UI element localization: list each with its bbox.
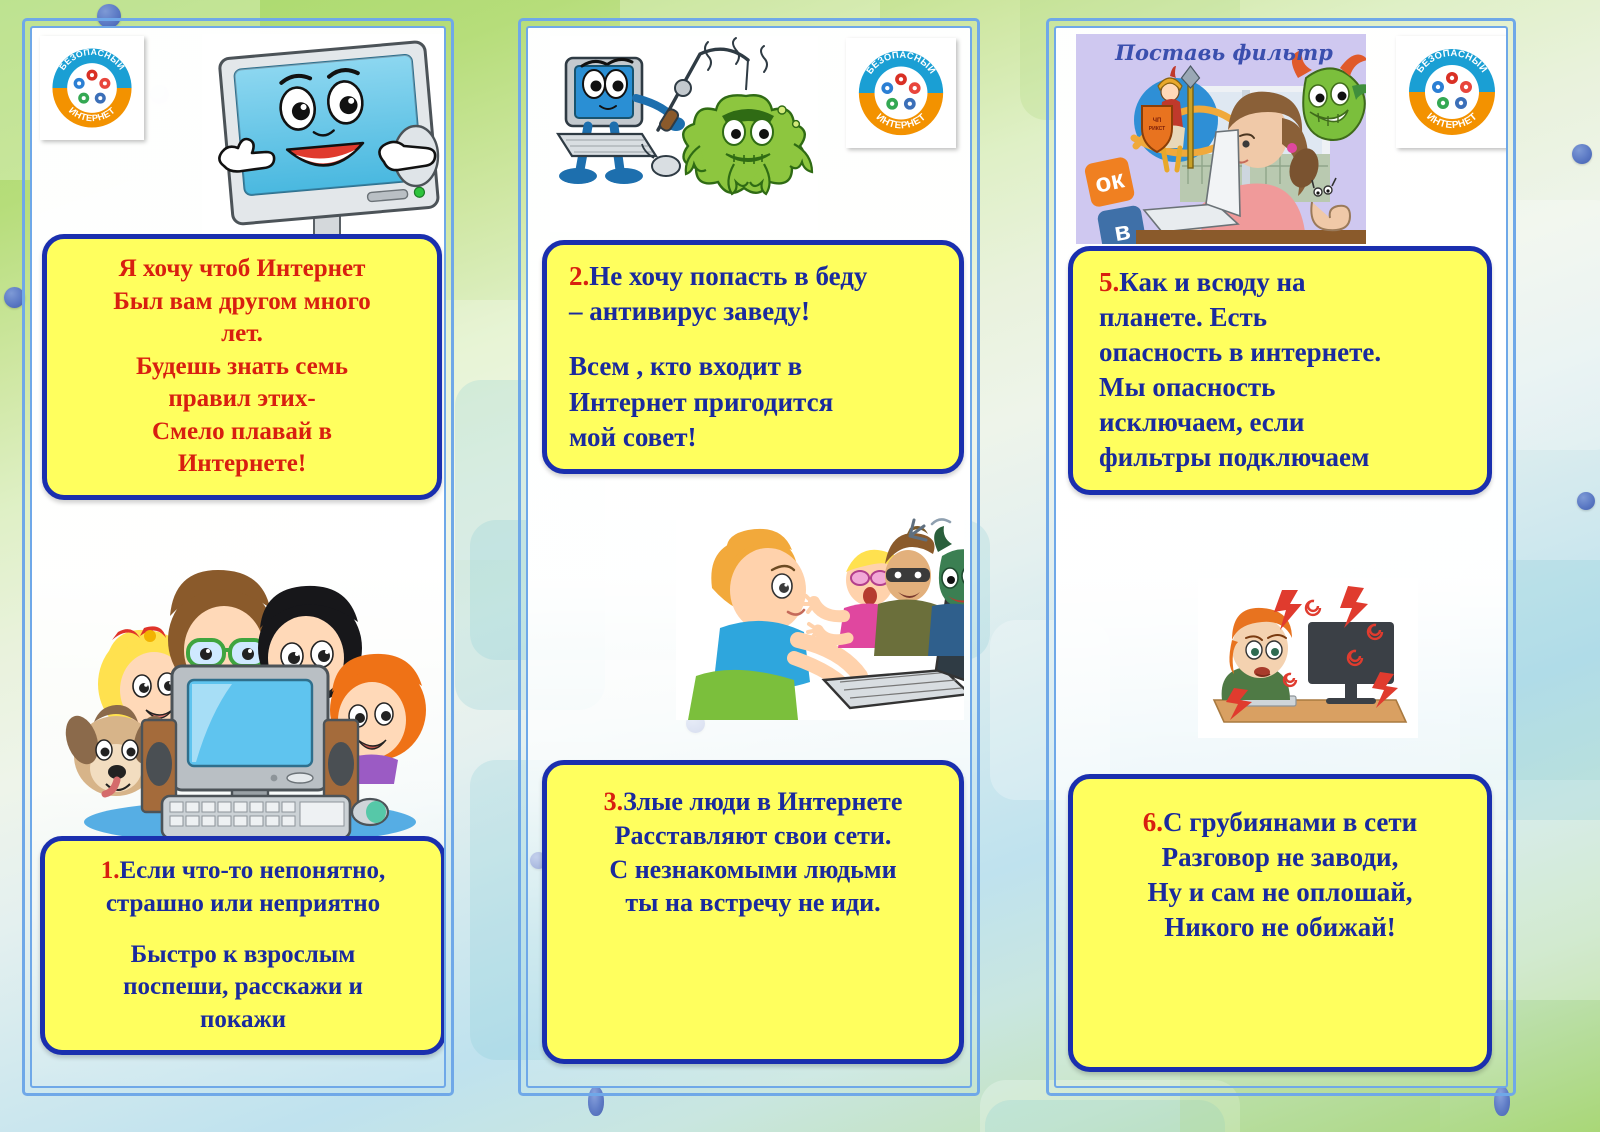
rhyme-line: исключаем, если [1099,405,1471,440]
rhyme-line: 6.С грубиянами в сети [1089,805,1471,840]
rhyme-line: 1.Если что-то непонятно, [61,855,425,888]
rhyme-line: поспеши, расскажи и [61,971,425,1004]
safe-internet-logo: БЕЗОПАСНЫЙ ИНТЕРНЕТ [40,36,144,140]
intro-box: Я хочу чтоб Интернет Был вам другом мног… [42,234,442,500]
rhyme-line: фильтры подключаем [1099,440,1471,475]
rhyme-line: ты на встречу не иди. [563,886,943,920]
rhyme-line-text: С грубиянами в сети [1163,807,1417,837]
rhyme-line-text: Не хочу попасть в беду [589,261,867,291]
rhyme-line: Расставляют свои сети. [563,819,943,853]
safe-internet-logo: БЕЗОПАСНЫЙ ИНТЕРНЕТ [846,38,956,148]
filter-caption: Поставь фильтр [1114,40,1333,65]
rhyme-line: мой совет! [569,420,943,455]
safe-internet-logo: БЕЗОПАСНЫЙ ИНТЕРНЕТ [1396,36,1508,148]
rhyme-line-text: Если что-то непонятно, [119,857,385,884]
rhyme-line: С незнакомыми людьми [563,853,943,887]
boy-laptop-strangers-illustration [676,516,964,720]
rule-number: 2. [569,261,589,291]
rhyme-line: Был вам другом много [63,286,421,319]
safe-internet-logo-icon: БЕЗОПАСНЫЙ ИНТЕРНЕТ [852,44,950,142]
computer-fishing-virus-illustration [550,36,818,232]
poster-canvas: БЕЗОПАСНЫЙ ИНТЕРНЕТ [0,0,1600,1132]
rhyme-line: – антивирус заведу! [569,294,943,329]
rhyme-line: Интернете! [63,448,421,481]
rhyme-line: 5.Как и всюду на [1099,265,1471,300]
boy-upset-at-monitor-illustration [1198,578,1418,738]
rhyme-line: Я хочу чтоб Интернет [63,253,421,286]
safe-internet-logo-icon: БЕЗОПАСНЫЙ ИНТЕРНЕТ [46,42,138,134]
column-panel-3: ЧП РИКСТ ок в [1046,18,1516,1096]
rhyme-line: лет. [63,318,421,351]
rhyme-line-text: Как и всюду на [1119,267,1305,297]
column-panel-2: БЕЗОПАСНЫЙ ИНТЕРНЕТ [518,18,980,1096]
rhyme-line: 2.Не хочу попасть в беду [569,259,943,294]
rule-number: 1. [101,857,120,884]
safe-internet-logo-icon: БЕЗОПАСНЫЙ ИНТЕРНЕТ [1402,42,1502,142]
rhyme-line-text: Злые люди в Интернете [623,787,902,816]
rule-3-box: 3.Злые люди в Интернете Расставляют свои… [542,760,964,1064]
rhyme-line: Быстро к взрослым [61,939,425,972]
smiling-monitor-illustration [202,34,446,264]
rule-2-box: 2.Не хочу попасть в беду – антивирус зав… [542,240,964,474]
rhyme-line: 3.Злые люди в Интернете [563,785,943,819]
rule-1-box: 1.Если что-то непонятно, страшно или неп… [40,836,446,1055]
rule-number: 5. [1099,267,1119,297]
rule-number: 3. [604,787,624,816]
bg-texture-block [985,1100,1225,1132]
rule-number: 6. [1143,807,1163,837]
put-a-filter-girl-laptop-illustration: ЧП РИКСТ ок в [1076,34,1366,244]
svg-text:ЧП: ЧП [1153,118,1162,124]
decorative-dot [1572,144,1592,164]
rhyme-line: покажи [61,1004,425,1037]
rule-6-box: 6.С грубиянами в сети Разговор не заводи… [1068,774,1492,1072]
rhyme-line: опасность в интернете. [1099,335,1471,370]
rhyme-line: Мы опасность [1099,370,1471,405]
rhyme-line: Никого не обижай! [1089,910,1471,945]
rhyme-line: Смело плавай в [63,416,421,449]
column-panel-1: БЕЗОПАСНЫЙ ИНТЕРНЕТ [22,18,454,1096]
rhyme-line: страшно или неприятно [61,888,425,921]
rhyme-line: правил этих- [63,383,421,416]
rhyme-line: Интернет пригодится [569,385,943,420]
rhyme-line: Будешь знать семь [63,351,421,384]
rhyme-line: Разговор не заводи, [1089,840,1471,875]
rhyme-line: Ну и сам не оплошай, [1089,875,1471,910]
svg-text:РИКСТ: РИКСТ [1149,126,1165,132]
decorative-dot [1577,492,1595,510]
rhyme-line: Всем , кто входит в [569,349,943,384]
rule-5-box: 5.Как и всюду на планете. Есть опасность… [1068,246,1492,495]
rhyme-line: планете. Есть [1099,300,1471,335]
children-with-computer-illustration [54,544,444,844]
